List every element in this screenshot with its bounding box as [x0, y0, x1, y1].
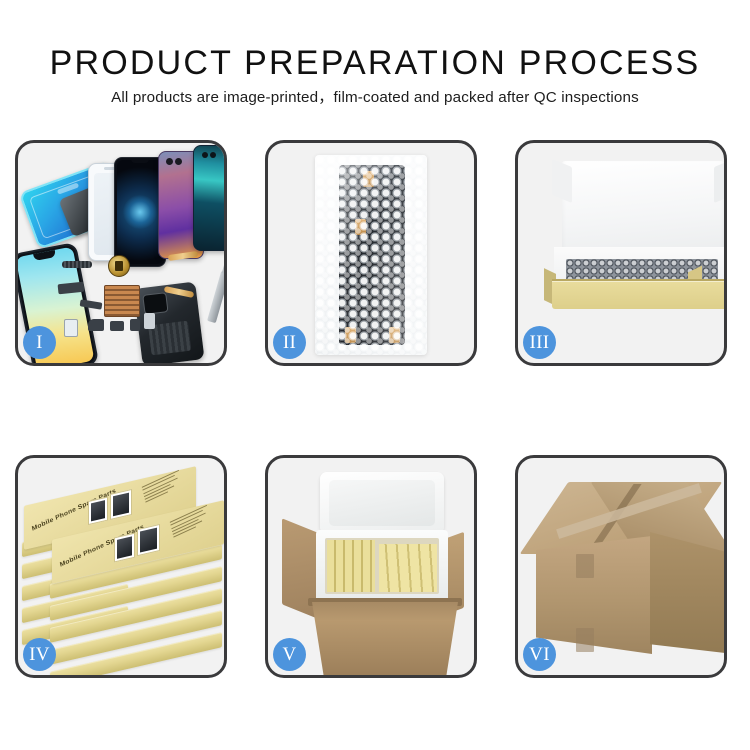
panel-stacked-boxes[interactable]: Mobile Phone Spare Parts Mobile Phone Sp…: [15, 455, 227, 678]
panel-sealed-carton[interactable]: VI: [515, 455, 727, 678]
box-window-phone-image: [110, 489, 132, 520]
process-step-grid: I II: [0, 0, 750, 750]
vibration-motor-part: [108, 255, 130, 277]
panel-products-and-parts[interactable]: I: [15, 140, 227, 366]
camera-module-part: [88, 319, 104, 331]
yellow-boxes-right-group: [379, 544, 437, 592]
foam-box-lid: [320, 472, 444, 534]
panel-inner-box-with-wrap[interactable]: III: [515, 140, 727, 366]
sim-tray-part: [64, 319, 78, 337]
carton-tape-tab: [576, 628, 594, 652]
screwdriver-icon: [207, 271, 227, 323]
step-badge: IV: [23, 638, 56, 671]
carton-face-side: [650, 532, 727, 654]
connector-part: [110, 321, 124, 331]
speaker-module-part: [62, 261, 92, 268]
phone-teal-gradient: [193, 145, 227, 251]
screw-grid-part: [104, 285, 140, 317]
step-badge: VI: [523, 638, 556, 671]
bubble-wrap-bag: [315, 155, 427, 355]
step-badge: II: [273, 326, 306, 359]
box-spec-lines: [142, 470, 183, 505]
panel-bubble-wrapped-part[interactable]: II: [265, 140, 477, 366]
carton-tape-tab: [576, 554, 594, 578]
step-badge: V: [273, 638, 306, 671]
carton-face-front: [536, 536, 652, 654]
camera-dot-icon: [166, 158, 173, 165]
foam-cavity: [325, 538, 439, 594]
button-part: [130, 319, 140, 331]
phone-notch-icon: [131, 159, 149, 163]
camera-dot-icon: [202, 152, 208, 158]
carton-body: [312, 602, 458, 676]
box-spec-lines: [170, 505, 211, 540]
step-badge: I: [23, 326, 56, 359]
plastic-sheen-overlay: [315, 155, 427, 355]
phone-screen-dark: [117, 160, 163, 264]
box-front-yellow: [552, 281, 727, 309]
panel-carton-with-foam-box[interactable]: V: [265, 455, 477, 678]
box-window-phone-image: [114, 533, 135, 563]
box-window-phone-image: [88, 496, 108, 525]
metal-plate-part: [144, 313, 155, 329]
yellow-boxes-left-group: [327, 540, 375, 592]
step-badge: III: [523, 326, 556, 359]
box-window-phone-image: [137, 524, 160, 556]
